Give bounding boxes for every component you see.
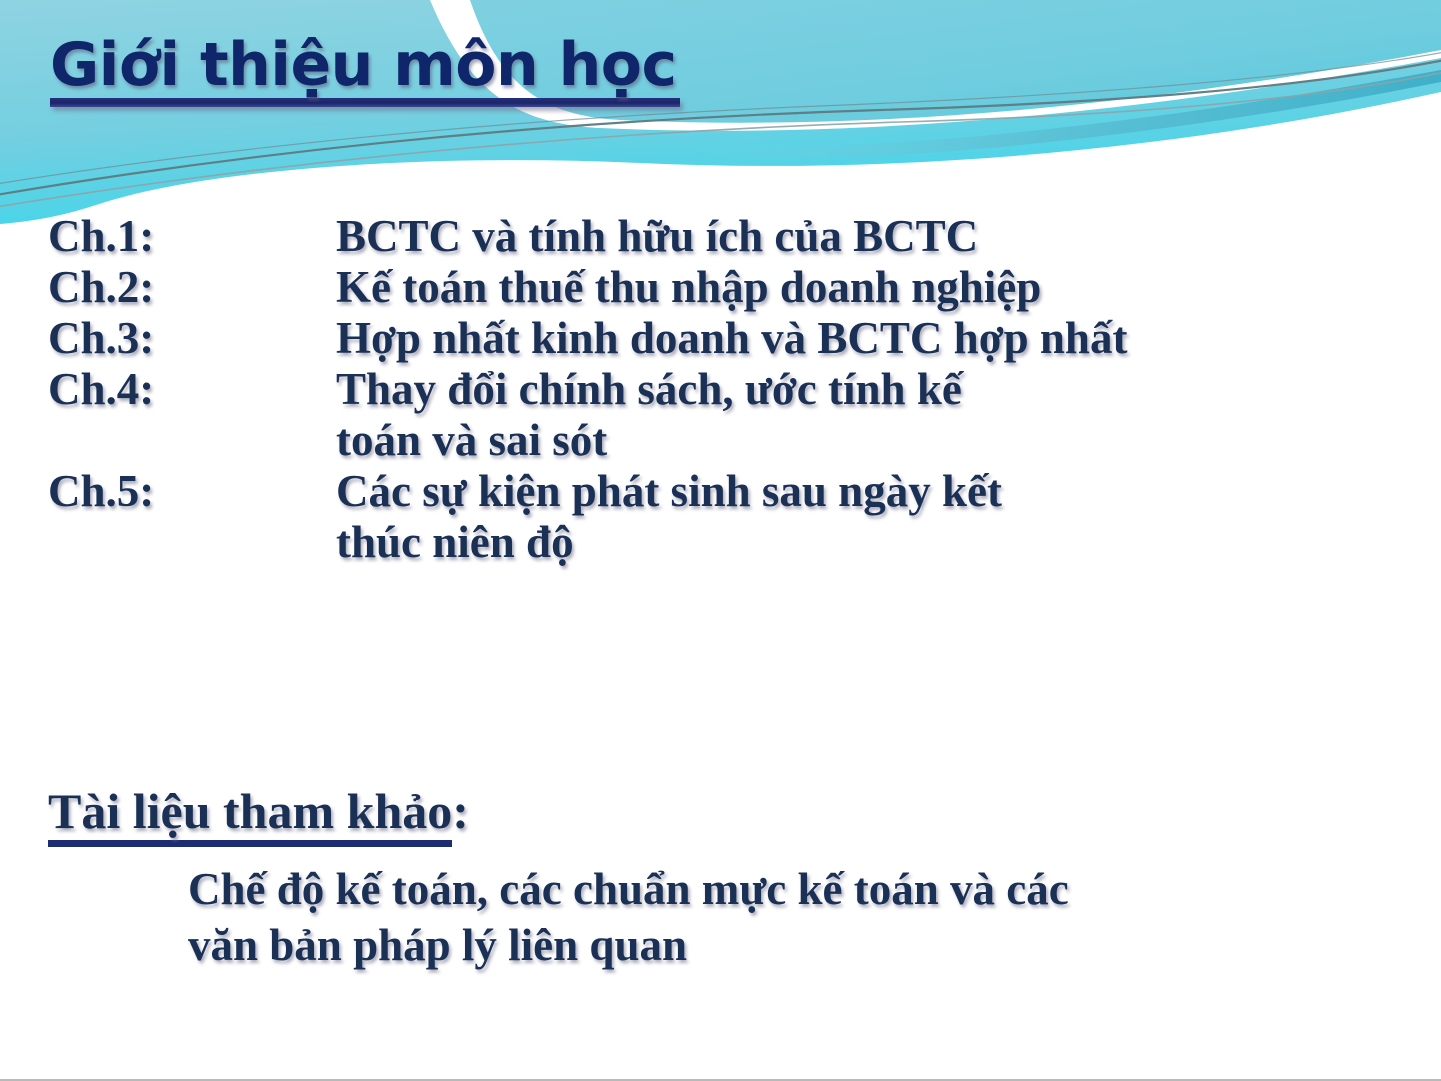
chapter-key: Ch.4: — [48, 364, 336, 415]
chapter-key: Ch.5: — [48, 466, 336, 517]
references-heading: Tài liệu tham khảo: — [48, 783, 469, 847]
references-heading-text: Tài liệu tham khảo — [48, 783, 452, 847]
title-block: Giới thiệu môn học — [50, 34, 750, 107]
chapter-row: Ch.4: Thay đổi chính sách, ước tính kế t… — [48, 364, 1408, 466]
chapter-text: Hợp nhất kinh doanh và BCTC hợp nhất — [336, 313, 1408, 364]
chapter-line: toán và sai sót — [336, 415, 1408, 466]
chapter-text: Các sự kiện phát sinh sau ngày kết thúc … — [336, 466, 1408, 568]
chapter-key: Ch.2: — [48, 262, 336, 313]
chapter-list: Ch.1: BCTC và tính hữu ích của BCTC Ch.2… — [48, 211, 1408, 568]
chapter-text: Thay đổi chính sách, ước tính kế toán và… — [336, 364, 1408, 466]
chapter-line: Các sự kiện phát sinh sau ngày kết — [336, 466, 1408, 517]
reference-line: văn bản pháp lý liên quan — [188, 917, 1408, 973]
presentation-slide: Giới thiệu môn học Ch.1: BCTC và tính hữ… — [0, 0, 1441, 1081]
chapter-text: BCTC và tính hữu ích của BCTC — [336, 211, 1408, 262]
chapter-line: Thay đổi chính sách, ước tính kế — [336, 364, 1408, 415]
chapter-row: Ch.3: Hợp nhất kinh doanh và BCTC hợp nh… — [48, 313, 1408, 364]
chapter-row: Ch.2: Kế toán thuế thu nhập doanh nghiệp — [48, 262, 1408, 313]
chapter-key: Ch.3: — [48, 313, 336, 364]
references-section: Tài liệu tham khảo: Chế độ kế toán, các … — [48, 783, 1408, 973]
chapter-row: Ch.5: Các sự kiện phát sinh sau ngày kết… — [48, 466, 1408, 568]
chapter-row: Ch.1: BCTC và tính hữu ích của BCTC — [48, 211, 1408, 262]
chapter-text: Kế toán thuế thu nhập doanh nghiệp — [336, 262, 1408, 313]
chapter-key: Ch.1: — [48, 211, 336, 262]
chapter-line: thúc niên độ — [336, 517, 1408, 568]
references-body: Chế độ kế toán, các chuẩn mực kế toán và… — [48, 861, 1408, 973]
chapter-line: Kế toán thuế thu nhập doanh nghiệp — [336, 262, 1408, 313]
page-title: Giới thiệu môn học — [50, 34, 750, 97]
reference-line: Chế độ kế toán, các chuẩn mực kế toán và… — [188, 861, 1408, 917]
chapter-line: Hợp nhất kinh doanh và BCTC hợp nhất — [336, 313, 1408, 364]
references-heading-colon: : — [452, 783, 469, 839]
chapter-line: BCTC và tính hữu ích của BCTC — [336, 211, 1408, 262]
